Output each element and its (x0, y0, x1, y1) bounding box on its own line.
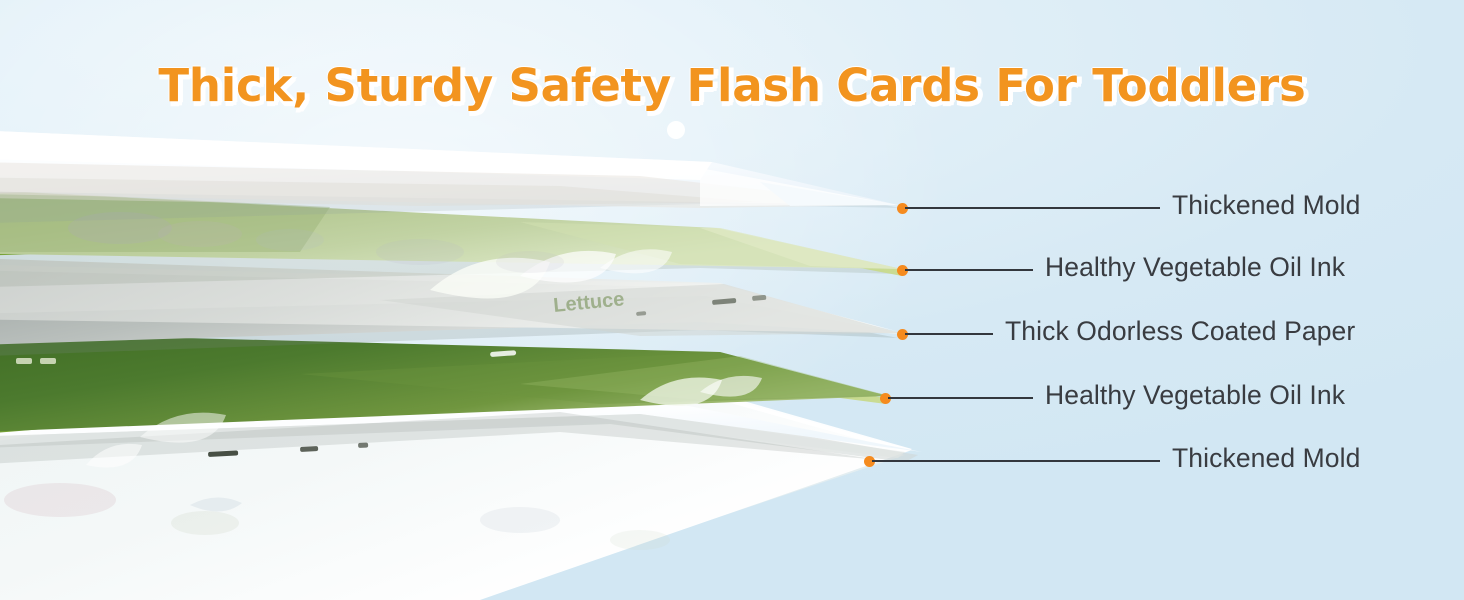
callout-label: Thickened Mold (1172, 443, 1360, 474)
callout-leader-line (888, 397, 1033, 399)
callout-label: Thick Odorless Coated Paper (1005, 316, 1355, 347)
product-infographic-banner: Lettuce (0, 0, 1464, 600)
callout-label: Thickened Mold (1172, 190, 1360, 221)
callout-leader-line (905, 207, 1160, 209)
callout-label: Healthy Vegetable Oil Ink (1045, 252, 1345, 283)
callout-list: Thickened Mold Healthy Vegetable Oil Ink… (0, 0, 1464, 600)
callout-leader-line (872, 460, 1160, 462)
callout-label: Healthy Vegetable Oil Ink (1045, 380, 1345, 411)
callout-leader-line (905, 333, 993, 335)
callout-leader-line (905, 269, 1033, 271)
